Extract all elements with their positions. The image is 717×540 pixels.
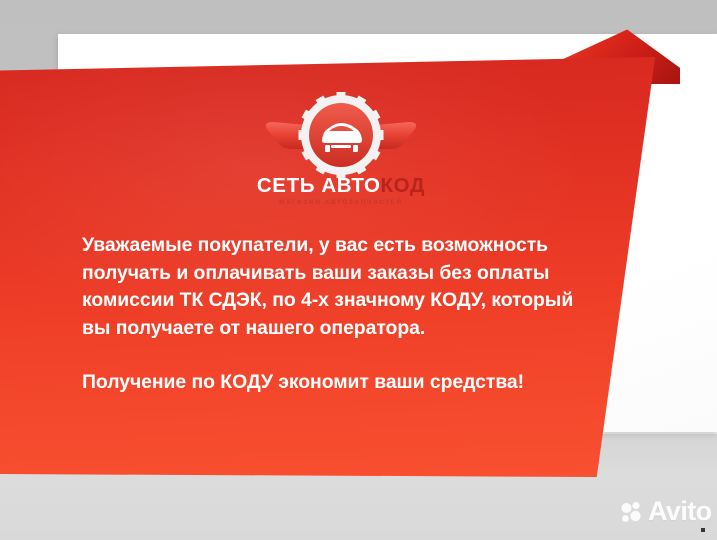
brand-wordmark-accent: КОД [381,174,426,197]
brand-logo: СЕТЬ АВТОКОД МАГАЗИН АВТОЗАПЧАСТЕЙ [243,92,439,212]
promo-message: Уважаемые покупатели, у вас есть возможн… [82,232,594,397]
brand-tagline: МАГАЗИН АВТОЗАПЧАСТЕЙ [243,199,439,206]
avito-watermark: Avito [620,498,712,525]
corner-marker-dot [701,528,705,532]
brand-wordmark-primary: СЕТЬ АВТО [257,174,381,197]
avito-dots-icon [620,500,644,524]
brand-wordmark: СЕТЬ АВТОКОД [243,176,439,197]
promo-paragraph-2: Получение по КОДУ экономит ваши средства… [82,369,594,397]
winged-gear-car-emblem-icon [243,92,439,178]
avito-wordmark: Avito [648,498,712,525]
paragraph-spacer [82,342,594,369]
promo-paragraph-1: Уважаемые покупатели, у вас есть возможн… [82,232,594,342]
banner-canvas: СЕТЬ АВТОКОД МАГАЗИН АВТОЗАПЧАСТЕЙ Уважа… [0,0,717,540]
